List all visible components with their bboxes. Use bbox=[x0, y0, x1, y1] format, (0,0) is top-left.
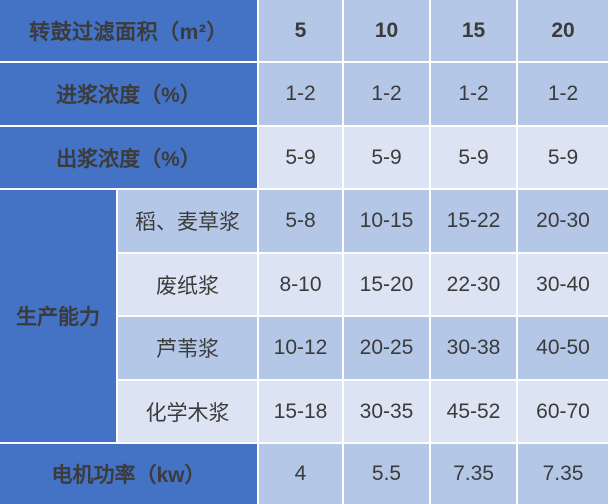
table-row: 电机功率（kw） 4 5.5 7.35 7.35 bbox=[0, 444, 608, 504]
cell-value: 45-52 bbox=[431, 381, 518, 444]
header-col-3: 15 bbox=[431, 0, 518, 63]
row-label-outlet-consistency: 出浆浓度（%） bbox=[0, 127, 259, 190]
header-label-filter-area: 转鼓过滤面积（m²） bbox=[0, 0, 259, 63]
cell-value: 5-9 bbox=[259, 127, 344, 190]
cell-value: 10-12 bbox=[259, 317, 344, 380]
header-col-2: 10 bbox=[344, 0, 431, 63]
cell-value: 5-8 bbox=[259, 190, 344, 253]
cell-value: 1-2 bbox=[259, 63, 344, 126]
cell-value: 5-9 bbox=[518, 127, 608, 190]
table-header-row: 转鼓过滤面积（m²） 5 10 15 20 bbox=[0, 0, 608, 63]
table-row: 生产能力 稻、麦草浆 5-8 10-15 15-22 20-30 bbox=[0, 190, 608, 253]
row-label-motor-power: 电机功率（kw） bbox=[0, 444, 259, 504]
cell-value: 1-2 bbox=[518, 63, 608, 126]
cell-value: 4 bbox=[259, 444, 344, 504]
header-col-1: 5 bbox=[259, 0, 344, 63]
cell-value: 22-30 bbox=[431, 254, 518, 317]
cell-value: 30-35 bbox=[344, 381, 431, 444]
subrow-label-waste-paper-pulp: 废纸浆 bbox=[118, 254, 259, 317]
cell-value: 15-20 bbox=[344, 254, 431, 317]
cell-value: 15-22 bbox=[431, 190, 518, 253]
cell-value: 15-18 bbox=[259, 381, 344, 444]
group-label-production-capacity: 生产能力 bbox=[0, 190, 118, 444]
cell-value: 8-10 bbox=[259, 254, 344, 317]
cell-value: 7.35 bbox=[431, 444, 518, 504]
cell-value: 5-9 bbox=[431, 127, 518, 190]
cell-value: 20-25 bbox=[344, 317, 431, 380]
cell-value: 5.5 bbox=[344, 444, 431, 504]
cell-value: 60-70 bbox=[518, 381, 608, 444]
subrow-label-chemical-wood-pulp: 化学木浆 bbox=[118, 381, 259, 444]
cell-value: 10-15 bbox=[344, 190, 431, 253]
cell-value: 30-40 bbox=[518, 254, 608, 317]
cell-value: 20-30 bbox=[518, 190, 608, 253]
cell-value: 7.35 bbox=[518, 444, 608, 504]
table-row: 出浆浓度（%） 5-9 5-9 5-9 5-9 bbox=[0, 127, 608, 190]
row-label-inlet-consistency: 进浆浓度（%） bbox=[0, 63, 259, 126]
cell-value: 30-38 bbox=[431, 317, 518, 380]
specification-table: 转鼓过滤面积（m²） 5 10 15 20 进浆浓度（%） 1-2 1-2 1-… bbox=[0, 0, 608, 504]
table-row: 进浆浓度（%） 1-2 1-2 1-2 1-2 bbox=[0, 63, 608, 126]
header-col-4: 20 bbox=[518, 0, 608, 63]
cell-value: 5-9 bbox=[344, 127, 431, 190]
cell-value: 40-50 bbox=[518, 317, 608, 380]
cell-value: 1-2 bbox=[431, 63, 518, 126]
cell-value: 1-2 bbox=[344, 63, 431, 126]
subrow-label-rice-wheat-straw-pulp: 稻、麦草浆 bbox=[118, 190, 259, 253]
subrow-label-reed-pulp: 芦苇浆 bbox=[118, 317, 259, 380]
